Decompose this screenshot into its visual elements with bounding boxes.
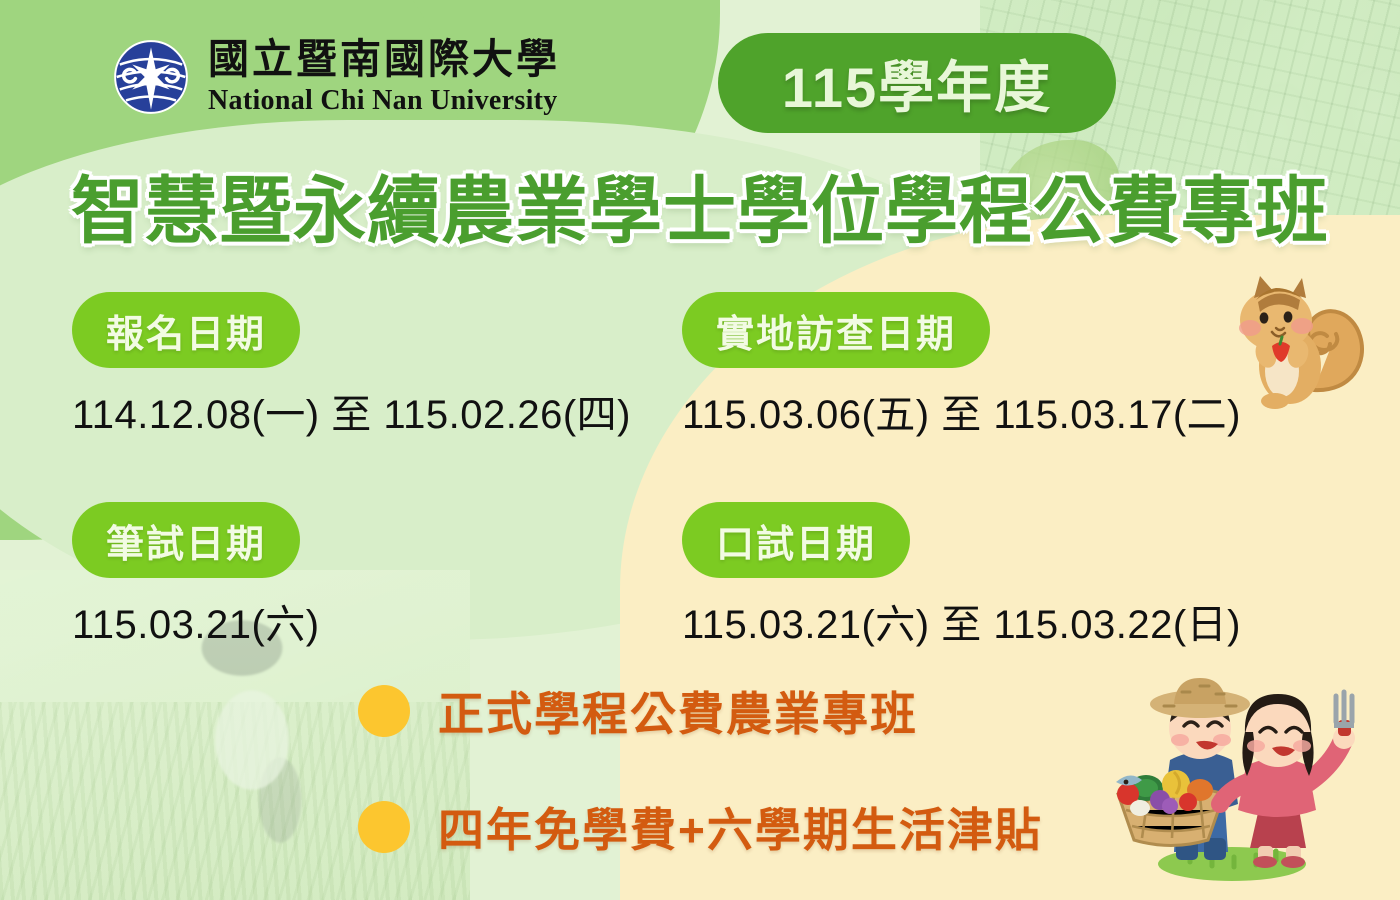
date-block-oral-exam: 口試日期 115.03.21(六) 至 115.03.22(日) (682, 502, 1302, 650)
nciu-logo-icon (112, 38, 190, 116)
date-value-written-exam: 115.03.21(六) (72, 592, 692, 650)
date-block-written-exam: 筆試日期 115.03.21(六) (72, 502, 692, 650)
key-dates-row-2: 筆試日期 115.03.21(六) 口試日期 115.03.21(六) 至 11… (0, 502, 1400, 650)
university-logo-block: 國立暨南國際大學 National Chi Nan University (112, 38, 560, 116)
date-value-registration: 114.12.08(一) 至 115.02.26(四) (72, 382, 692, 440)
highlights-section: 正式學程公費農業專班 四年免學費+六學期生活津貼 (358, 678, 1043, 900)
key-dates-row-1: 報名日期 114.12.08(一) 至 115.02.26(四) 實地訪查日期 … (0, 292, 1400, 440)
date-label-text: 口試日期 (716, 513, 876, 568)
academic-year-label: 115學年度 (782, 43, 1052, 124)
date-label-text: 報名日期 (106, 303, 266, 358)
key-dates-section: 報名日期 114.12.08(一) 至 115.02.26(四) 實地訪查日期 … (0, 292, 1400, 650)
date-block-registration: 報名日期 114.12.08(一) 至 115.02.26(四) (72, 292, 692, 440)
highlight-item: 四年免學費+六學期生活津貼 (358, 794, 1043, 860)
date-label-pill-oral-exam: 口試日期 (682, 502, 910, 578)
bullet-dot-icon (358, 801, 410, 853)
highlight-text: 四年免學費+六學期生活津貼 (438, 794, 1043, 860)
date-label-pill-site-visit: 實地訪查日期 (682, 292, 990, 368)
squirrel-icon (1202, 258, 1372, 418)
page-title: 智慧暨永續農業學士學位學程公費專班 (0, 152, 1400, 258)
academic-year-badge: 115學年度 (718, 33, 1116, 133)
farmer-couple-icon (1082, 642, 1372, 882)
date-label-pill-registration: 報名日期 (72, 292, 300, 368)
highlight-item: 正式學程公費農業專班 (358, 678, 1043, 744)
date-label-pill-written-exam: 筆試日期 (72, 502, 300, 578)
bullet-dot-icon (358, 685, 410, 737)
poster-canvas: 國立暨南國際大學 National Chi Nan University 115… (0, 0, 1400, 900)
university-name-zh: 國立暨南國際大學 (208, 39, 560, 80)
highlight-text: 正式學程公費農業專班 (438, 678, 918, 744)
date-label-text: 筆試日期 (106, 513, 266, 568)
university-name-en: National Chi Nan University (208, 87, 560, 115)
date-label-text: 實地訪查日期 (716, 303, 956, 358)
